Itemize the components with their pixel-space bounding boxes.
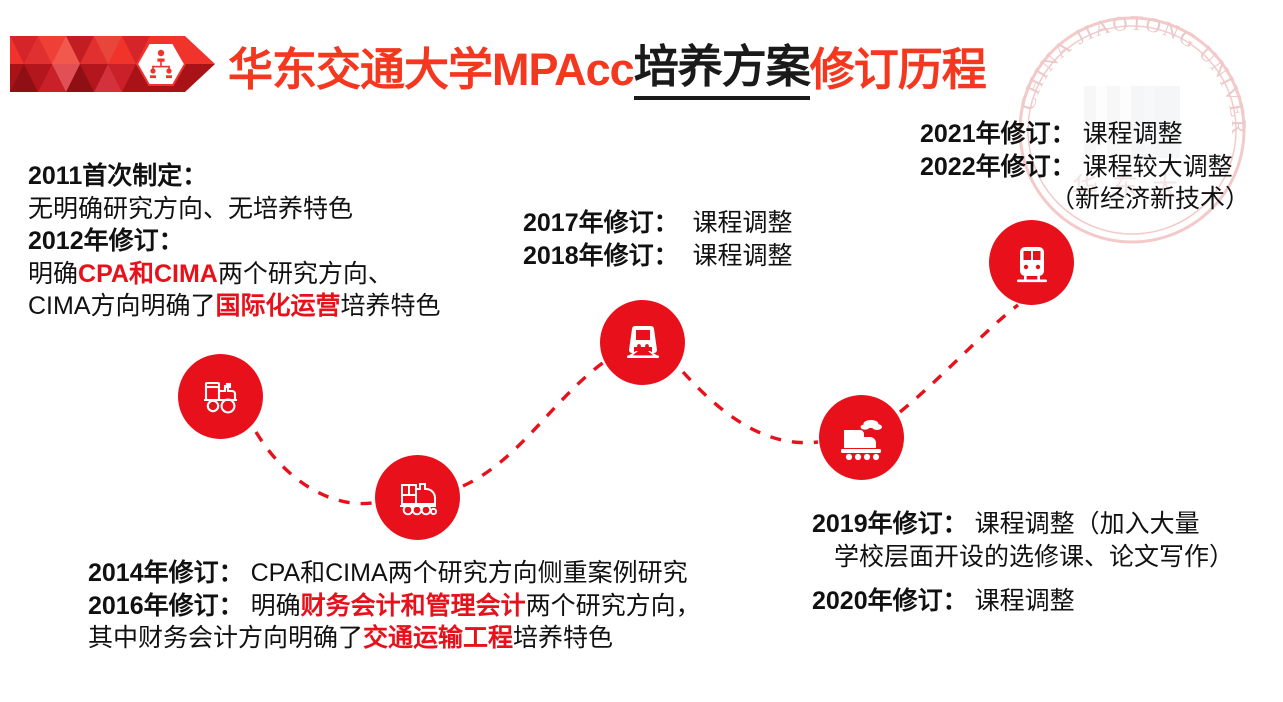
label-2011-year: 2011首次制定： bbox=[28, 160, 441, 193]
slide-canvas: CHINA JIAOTONG UNIVERSITY 华东大 bbox=[0, 0, 1283, 702]
t-pre: CIMA方向明确了 bbox=[28, 292, 216, 320]
label-2016: 2016年修订： 明确财务会计和管理会计两个研究方向， bbox=[88, 590, 701, 623]
label-2014: 2014年修订： CPA和CIMA两个研究方向侧重案例研究 bbox=[88, 557, 701, 590]
label-2012-detail-line2: CIMA方向明确了国际化运营培养特色 bbox=[28, 290, 441, 323]
spacer bbox=[812, 573, 1234, 585]
title-part-red-2: 修订历程 bbox=[810, 33, 986, 98]
header-banner-decoration bbox=[10, 36, 225, 92]
label-2020: 2020年修订： 课程调整 bbox=[812, 585, 1234, 618]
label-2018: 2018年修订： 课程调整 bbox=[523, 240, 793, 273]
timeline-node-1[interactable] bbox=[178, 354, 263, 439]
t-post: 培养特色 bbox=[513, 624, 613, 652]
label-2012-detail-line1: 明确CPA和CIMA两个研究方向、 bbox=[28, 258, 441, 291]
year-2016: 2016年修订： bbox=[88, 592, 244, 620]
detail-2016-continued: 其中财务会计方向明确了交通运输工程培养特色 bbox=[88, 622, 701, 655]
t-post: 两个研究方向、 bbox=[218, 260, 393, 288]
page-title: 华东交通大学MPAcc培养方案修订历程 bbox=[228, 36, 986, 94]
steam-train-outline-icon bbox=[197, 373, 245, 421]
detail-2014: CPA和CIMA两个研究方向侧重案例研究 bbox=[251, 559, 688, 587]
detail-2019: 课程调整（加入大量 bbox=[975, 510, 1200, 538]
text-block-2011-2012: 2011首次制定： 无明确研究方向、无培养特色 2012年修订： 明确CPA和C… bbox=[28, 160, 441, 323]
title-part-underlined: 培养方案 bbox=[634, 30, 810, 100]
title-part-red-1: 华东交通大学MPAcc bbox=[228, 33, 634, 98]
label-2012-year: 2012年修订： bbox=[28, 225, 441, 258]
label-2017: 2017年修订： 课程调整 bbox=[523, 207, 793, 240]
steam-train-solid-icon bbox=[836, 412, 888, 464]
timeline-node-5[interactable] bbox=[989, 220, 1074, 305]
year-2017: 2017年修订： bbox=[523, 209, 679, 237]
year-2020: 2020年修订： bbox=[812, 587, 968, 615]
metro-train-front-icon bbox=[1009, 240, 1055, 286]
year-2019: 2019年修订： bbox=[812, 510, 968, 538]
t-highlight: CPA和CIMA bbox=[78, 260, 218, 288]
t-post: 两个研究方向， bbox=[526, 592, 701, 620]
year-2018: 2018年修订： bbox=[523, 242, 679, 270]
text-block-2014-2016: 2014年修订： CPA和CIMA两个研究方向侧重案例研究 2016年修订： 明… bbox=[88, 557, 701, 655]
detail-2022-continued: （新经济新技术） bbox=[920, 183, 1250, 216]
label-2019: 2019年修订： 课程调整（加入大量 bbox=[812, 508, 1234, 541]
label-2011-detail: 无明确研究方向、无培养特色 bbox=[28, 193, 441, 226]
label-2022: 2022年修订： 课程较大调整 bbox=[920, 151, 1250, 184]
text-block-2019-2020: 2019年修订： 课程调整（加入大量 学校层面开设的选修课、论文写作） 2020… bbox=[812, 508, 1234, 618]
text-block-2017-2018: 2017年修订： 课程调整 2018年修订： 课程调整 bbox=[523, 207, 793, 272]
year-2022: 2022年修订： bbox=[920, 153, 1076, 181]
train-front-icon bbox=[619, 319, 667, 367]
svg-text:CHINA JIAOTONG UNIVERSITY: CHINA JIAOTONG UNIVERSITY bbox=[992, 0, 1251, 136]
year-2014: 2014年修订： bbox=[88, 559, 244, 587]
t-highlight: 交通运输工程 bbox=[363, 624, 513, 652]
detail-2020: 课程调整 bbox=[975, 587, 1075, 615]
t-highlight: 国际化运营 bbox=[216, 292, 341, 320]
t-pre: 其中财务会计方向明确了 bbox=[88, 624, 363, 652]
t-pre: 明确 bbox=[28, 260, 78, 288]
detail-2018: 课程调整 bbox=[693, 242, 793, 270]
timeline-node-3[interactable] bbox=[600, 300, 685, 385]
t-pre: 明确 bbox=[251, 592, 301, 620]
text-block-2021-2022: 2021年修订： 课程调整 2022年修订： 课程较大调整 （新经济新技术） bbox=[920, 118, 1250, 216]
detail-2019-continued: 学校层面开设的选修课、论文写作） bbox=[812, 541, 1234, 574]
label-2021: 2021年修订： 课程调整 bbox=[920, 118, 1250, 151]
detail-2017: 课程调整 bbox=[693, 209, 793, 237]
steam-locomotive-outline-icon bbox=[393, 473, 443, 523]
timeline-node-2[interactable] bbox=[375, 455, 460, 540]
year-2021: 2021年修订： bbox=[920, 120, 1076, 148]
timeline-node-4[interactable] bbox=[819, 395, 904, 480]
detail-2022: 课程较大调整 bbox=[1083, 153, 1233, 181]
t-highlight: 财务会计和管理会计 bbox=[301, 592, 526, 620]
t-post: 培养特色 bbox=[341, 292, 441, 320]
detail-2021: 课程调整 bbox=[1083, 120, 1183, 148]
